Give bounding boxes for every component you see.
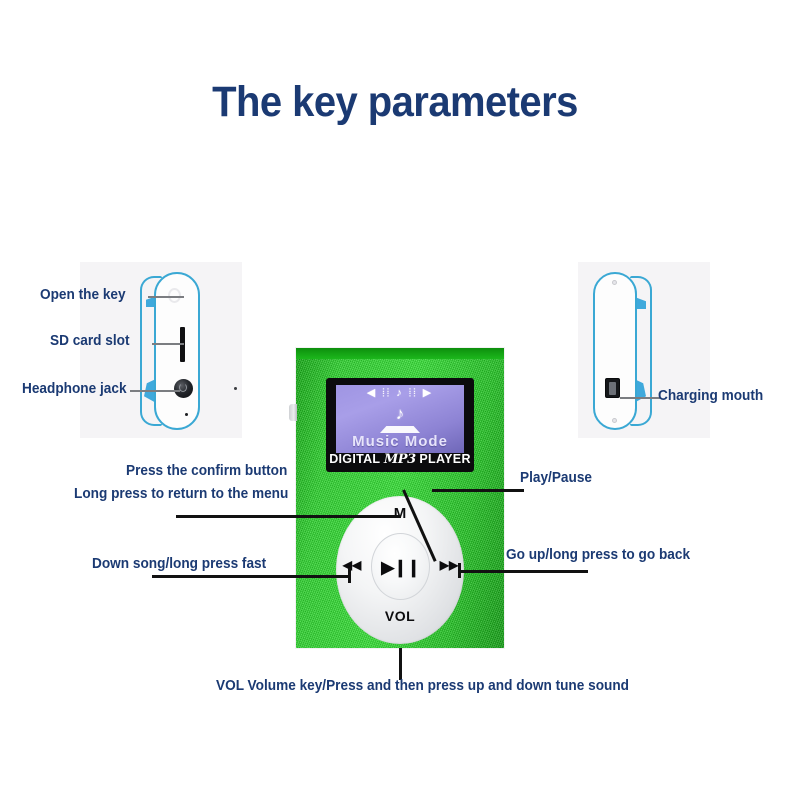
label-press-confirm-button: Press the confirm button: [126, 463, 287, 479]
label-volume-key: VOL Volume key/Press and then press up a…: [216, 678, 629, 694]
lcd-status-icons: ◀ ⦙⦙ ♪ ⦙⦙ ▶: [336, 387, 464, 400]
sd-card-slot-icon[interactable]: [180, 327, 185, 362]
music-note-icon: ♪: [336, 405, 464, 423]
leader-line-sd-card-slot: [152, 343, 184, 345]
label-play-pause: Play/Pause: [520, 470, 592, 486]
leader-cap-go-up: [458, 563, 461, 578]
lcd-screen: ◀ ⦙⦙ ♪ ⦙⦙ ▶ ♪ Music Mode: [336, 385, 464, 453]
leader-cap-down-song: [348, 568, 351, 583]
play-pause-icon[interactable]: ▶❙❙: [372, 558, 429, 578]
player-side-button[interactable]: [289, 404, 297, 421]
player-brand-text: DIGITAL MP3 PLAYER: [326, 452, 474, 467]
lcd-mode-text: Music Mode: [336, 433, 464, 450]
leader-line-volume: [399, 648, 402, 680]
label-down-song: Down song/long press fast: [92, 556, 266, 572]
label-sd-card-slot: SD card slot: [50, 333, 130, 349]
right-device-screw-bottom-icon: [612, 418, 617, 423]
label-charging-mouth: Charging mouth: [658, 388, 763, 404]
leader-line-open-the-key: [148, 296, 184, 298]
label-go-up: Go up/long press to go back: [506, 547, 690, 563]
leader-line-go-up: [458, 570, 588, 573]
brand-prefix: DIGITAL: [329, 452, 384, 466]
headphone-jack-icon[interactable]: [174, 379, 193, 398]
left-panel-speck: [234, 387, 237, 390]
leader-line-play-pause-horizontal: [432, 489, 524, 492]
left-device-reset-dot-icon: [185, 413, 188, 416]
leader-line-down-song: [152, 575, 350, 578]
brand-mp3: MP3: [384, 452, 416, 467]
lcd-platform-shape: [380, 426, 420, 433]
volume-button[interactable]: VOL: [378, 608, 422, 624]
right-device-screw-top-icon: [612, 280, 617, 285]
previous-track-button[interactable]: ◀◀: [339, 558, 365, 572]
page-title: The key parameters: [28, 78, 763, 127]
product-diagram-page: The key parameters Open the key SD card …: [0, 0, 790, 790]
leader-line-confirm-button: [176, 515, 401, 518]
label-open-the-key: Open the key: [40, 287, 126, 303]
label-headphone-jack: Headphone jack: [22, 381, 127, 397]
player-top-edge: [296, 348, 504, 359]
leader-line-headphone-jack: [130, 390, 180, 392]
brand-suffix: PLAYER: [416, 452, 471, 466]
label-long-press-return-menu: Long press to return to the menu: [74, 486, 288, 502]
right-device-body: [593, 272, 637, 430]
usb-charging-port-icon[interactable]: [605, 378, 620, 398]
leader-line-charging-mouth: [620, 397, 660, 399]
